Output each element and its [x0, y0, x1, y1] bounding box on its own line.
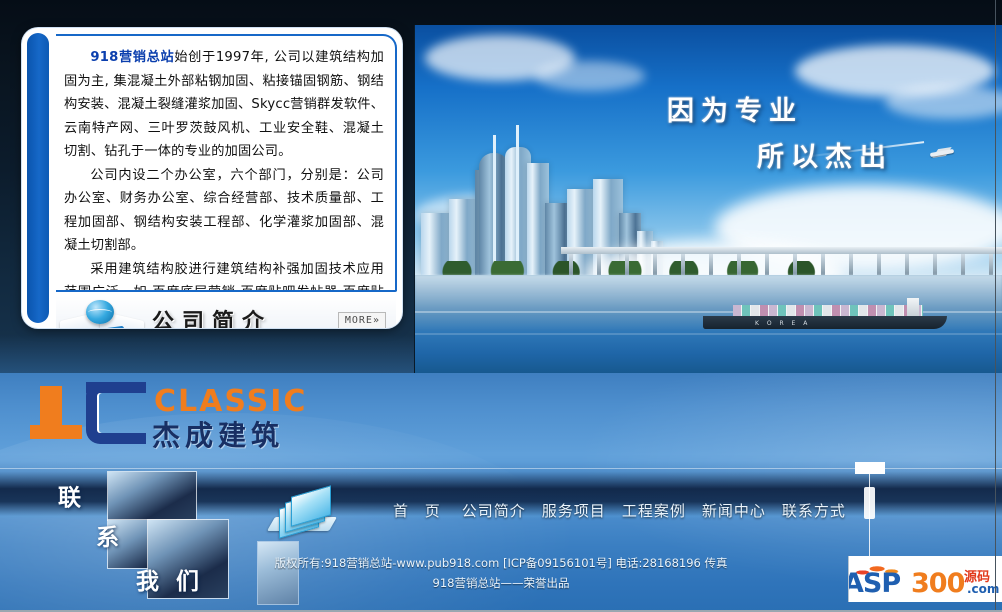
- intro-text-area: 918营销总站始创于1997年, 公司以建筑结构加固为主, 集混凝土外部粘钢加固…: [60, 40, 392, 290]
- nav-item-services[interactable]: 服务项目: [542, 500, 606, 521]
- documents-stack-icon: [265, 487, 351, 533]
- right-edge-rule: [995, 0, 996, 612]
- intro-paragraph-2: 公司内设二个办公室，六个部门，分别是：公司办公室、财务办公室、综合经营部、技术质…: [64, 164, 384, 258]
- airplane-icon: [920, 147, 954, 159]
- nav-item-about[interactable]: 公司简介: [462, 500, 526, 521]
- nav-item-cases[interactable]: 工程案例: [622, 500, 686, 521]
- nav-item-home[interactable]: 首 页: [393, 500, 446, 521]
- company-intro-panel: 918营销总站始创于1997年, 公司以建筑结构加固为主, 集混凝土外部粘钢加固…: [22, 28, 402, 328]
- nav-item-contact[interactable]: 联系方式: [782, 500, 846, 521]
- banner-headline-1: 因为专业: [667, 89, 803, 128]
- chevron-right-icon: »: [373, 315, 380, 326]
- cloud: [885, 85, 1002, 119]
- contact-char-1: 联: [58, 478, 81, 512]
- banner-headline-2: 所以杰出: [757, 135, 893, 174]
- hero-banner-image: K O R E A 因为专业 所以杰出: [414, 25, 1002, 373]
- intro-paragraph-1-rest: 始创于1997年, 公司以建筑结构加固为主, 集混凝土外部粘钢加固、粘接锚固钢筋…: [64, 50, 384, 159]
- brand-name: 918营销总站: [90, 50, 174, 65]
- nav-menu: 首 页 公司简介 服务项目 工程案例 新闻中心 联系方式: [393, 500, 846, 521]
- building-photo-tile: [108, 472, 196, 520]
- asp300-watermark: ASP 300 源码 .com: [848, 556, 1002, 602]
- intro-text: 918营销总站始创于1997年, 公司以建筑结构加固为主, 集混凝土外部粘钢加固…: [64, 46, 384, 290]
- cloud: [535, 61, 645, 91]
- nav-item-news[interactable]: 新闻中心: [702, 500, 766, 521]
- main-navigation: 首 页 公司简介 服务项目 工程案例 新闻中心 联系方式: [265, 484, 885, 536]
- horizontal-divider: [0, 468, 1002, 469]
- logo-j-foot: [30, 425, 82, 439]
- more-button[interactable]: MORE»: [338, 312, 386, 329]
- panel-title: 公司简介: [152, 304, 338, 328]
- site-logo[interactable]: CLASSIC 杰成建筑: [30, 378, 330, 450]
- logo-chinese-text: 杰成建筑: [152, 414, 284, 454]
- logo-c-mark: [86, 382, 146, 444]
- panel-blue-rail: [27, 33, 49, 323]
- vertical-divider-cap: [864, 487, 875, 519]
- watermark-300: 300: [911, 568, 964, 599]
- intro-paragraph-3: 采用建筑结构胶进行建筑结构补强加固技术应用范围广泛，如 百度底层营销 百度贴吧发…: [64, 258, 384, 291]
- more-label: MORE: [345, 315, 373, 326]
- ship-name: K O R E A: [755, 320, 810, 327]
- contact-char-2: 系: [96, 518, 119, 552]
- panel-footer-bar: 公司简介 MORE»: [56, 296, 396, 328]
- page-root: 918营销总站始创于1997年, 公司以建筑结构加固为主, 集混凝土外部粘钢加固…: [0, 0, 1002, 612]
- container-ship: K O R E A: [703, 303, 947, 329]
- intro-paragraph-3-lead: 采用建筑结构胶进行建筑结构补强加固技术应用范围广泛，如 百度底层营销 百度贴吧发…: [64, 262, 384, 291]
- intro-paragraph-1: 918营销总站始创于1997年, 公司以建筑结构加固为主, 集混凝土外部粘钢加固…: [64, 46, 384, 164]
- book-globe-icon: [56, 298, 146, 328]
- vertical-divider-tab: [855, 462, 885, 474]
- watermark-asp: ASP: [848, 568, 900, 599]
